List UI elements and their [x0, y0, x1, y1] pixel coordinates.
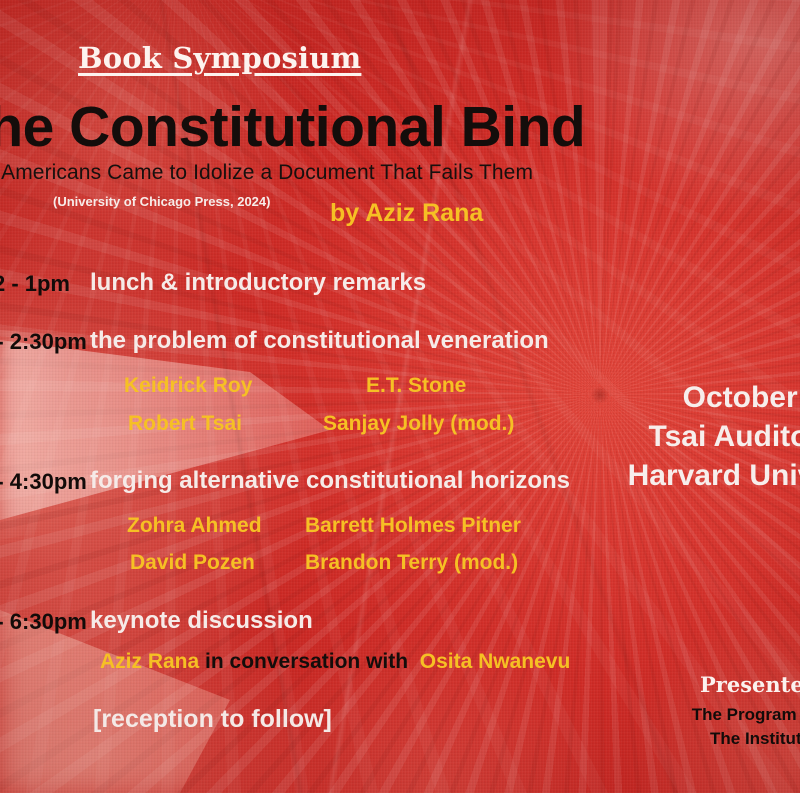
schedule-title-2: the problem of constitutional veneration	[90, 327, 549, 355]
keynote-conversation: Aziz Rana in conversation with Osita Nwa…	[100, 650, 570, 674]
keynote-interlocutor: Osita Nwanevu	[420, 650, 571, 673]
venue-block: October 25 Tsai Auditorium Harvard Unive…	[596, 378, 800, 495]
schedule-time-3: 3 - 4:30pm	[0, 469, 70, 495]
panelist-2-1: Zohra Ahmed	[127, 514, 262, 538]
event-poster: Book Symposium The Constitutional Bind H…	[0, 0, 800, 793]
event-institution: Harvard University	[596, 456, 800, 495]
panelist-1-3: Robert Tsai	[128, 412, 242, 436]
panelist-2-3: David Pozen	[130, 551, 255, 575]
panelist-2-4: Brandon Terry (mod.)	[305, 551, 518, 575]
presenter-line-1: The Program on Law and Society	[560, 703, 800, 727]
event-room: Tsai Auditorium	[596, 417, 800, 456]
keynote-connector: in conversation with	[205, 650, 408, 673]
panelist-1-2: E.T. Stone	[366, 374, 466, 398]
presenter-line-2: The Institute on Policing, Incarceration…	[560, 727, 800, 751]
panelist-1-1: Keidrick Roy	[124, 374, 252, 398]
schedule-time-4: 5 - 6:30pm	[0, 609, 70, 635]
reception-note: [reception to follow]	[93, 705, 332, 734]
presenter-line-3: The Center for American Political Studie…	[560, 751, 800, 775]
panelist-2-2: Barrett Holmes Pitner	[305, 514, 521, 538]
schedule-title-3: forging alternative constitutional horiz…	[90, 467, 570, 495]
schedule-title-4: keynote discussion	[90, 607, 313, 635]
presenters-list: The Program on Law and Society The Insti…	[560, 703, 800, 775]
schedule-title-1: lunch & introductory remarks	[90, 269, 426, 297]
panelist-1-4: Sanjay Jolly (mod.)	[323, 412, 514, 436]
presenters-heading: Presented by	[700, 672, 800, 697]
event-date: October 25	[596, 378, 800, 417]
schedule-time-1: 12 - 1pm	[0, 271, 70, 297]
schedule-time-2: 1 - 2:30pm	[0, 329, 70, 355]
keynote-speaker: Aziz Rana	[100, 650, 199, 673]
